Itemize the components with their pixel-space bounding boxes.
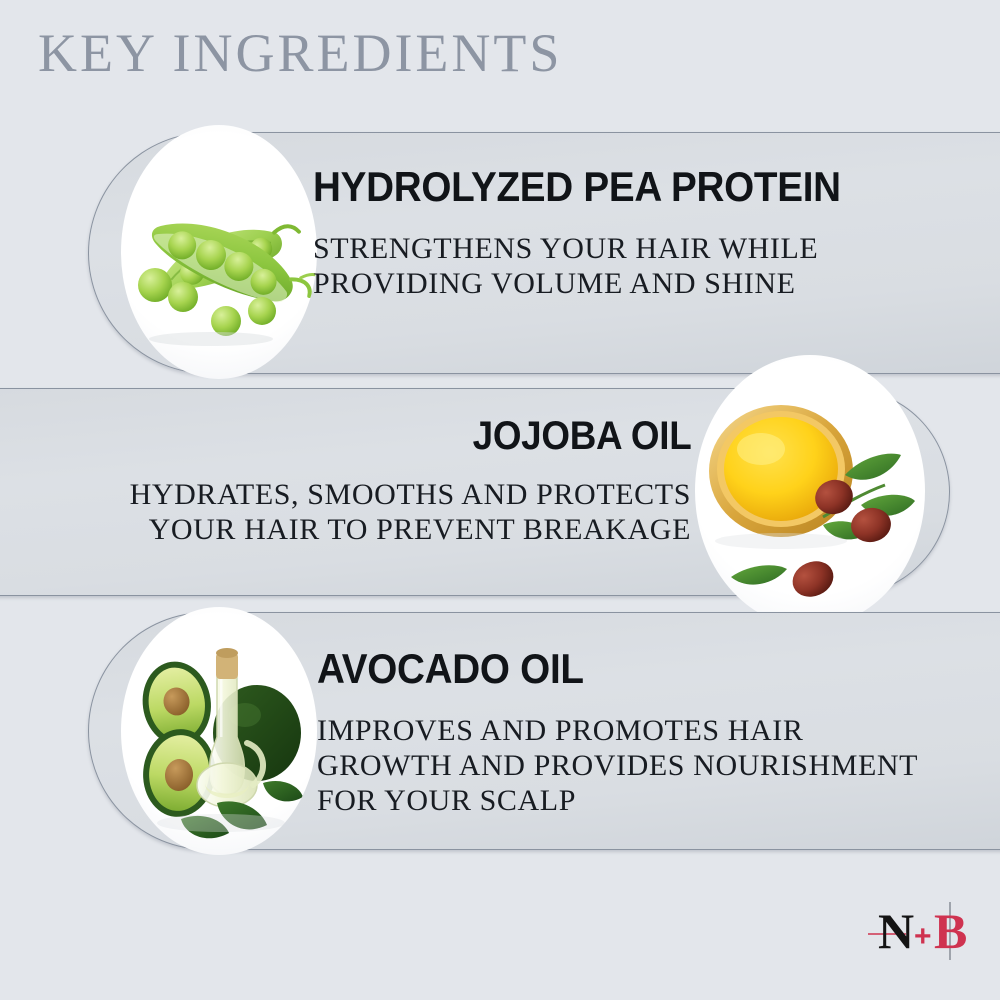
card-3-body-line-3: FOR YOUR SCALP (317, 783, 918, 818)
card-2-heading: JOJOBA OIL (174, 415, 691, 457)
card-3-text-block: AVOCADO OIL IMPROVES AND PROMOTES HAIR G… (317, 647, 918, 818)
card-2-text-block: JOJOBA OIL HYDRATES, SMOOTHS AND PROTECT… (130, 415, 691, 547)
card-3-body-line-2: GROWTH AND PROVIDES NOURISHMENT (317, 748, 918, 783)
card-1-text-block: HYDROLYZED PEA PROTEIN STRENGTHENS YOUR … (313, 165, 887, 301)
jojoba-oil-illustration (695, 355, 925, 627)
logo-plus-sign: + (914, 920, 932, 953)
ingredient-card-avocado-oil: AVOCADO OIL IMPROVES AND PROMOTES HAIR G… (88, 612, 1000, 850)
key-ingredients-infographic: KEY INGREDIENTS (0, 0, 1000, 1000)
card-1-body-line-2: PROVIDING VOLUME AND SHINE (313, 266, 887, 301)
ingredient-card-pea-protein: HYDROLYZED PEA PROTEIN STRENGTHENS YOUR … (88, 132, 1000, 374)
card-1-body-line-1: STRENGTHENS YOUR HAIR WHILE (313, 231, 887, 266)
nb-logo-mark: N + B (866, 898, 982, 964)
card-3-body-line-1: IMPROVES AND PROMOTES HAIR (317, 713, 918, 748)
pea-pods-illustration (121, 125, 317, 379)
page-title: KEY INGREDIENTS (38, 24, 562, 83)
card-2-body-line-2: YOUR HAIR TO PREVENT BREAKAGE (130, 512, 691, 547)
card-1-body: STRENGTHENS YOUR HAIR WHILE PROVIDING VO… (313, 231, 887, 301)
logo-letter-n: N (878, 903, 914, 959)
pea-pods-photo (121, 125, 317, 379)
card-3-body: IMPROVES AND PROMOTES HAIR GROWTH AND PR… (317, 713, 918, 818)
card-2-body-line-1: HYDRATES, SMOOTHS AND PROTECTS (130, 477, 691, 512)
brand-logo-nb: N + B (866, 898, 982, 964)
card-1-heading: HYDROLYZED PEA PROTEIN (313, 165, 841, 209)
avocado-oil-photo (121, 607, 317, 855)
card-3-heading: AVOCADO OIL (317, 647, 870, 691)
jojoba-oil-photo (695, 355, 925, 627)
avocado-oil-illustration (121, 607, 317, 855)
card-2-body: HYDRATES, SMOOTHS AND PROTECTS YOUR HAIR… (130, 477, 691, 547)
ingredient-card-jojoba-oil: JOJOBA OIL HYDRATES, SMOOTHS AND PROTECT… (0, 388, 950, 596)
logo-letter-b: B (934, 903, 967, 959)
